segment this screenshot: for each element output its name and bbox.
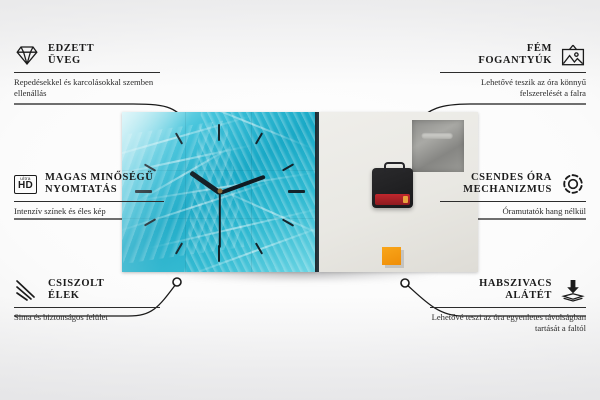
feature-title: CSISZOLT ÉLEK [48, 278, 104, 303]
feature-polished-edges[interactable]: CSISZOLT ÉLEK Sima és biztonságos felüle… [14, 278, 160, 323]
feature-description: Óramutatók hang nélkül [440, 206, 586, 217]
divider [14, 72, 160, 73]
ultra-hd-icon: ultra HD [14, 175, 37, 195]
infographic-canvas: EDZETT ÜVEG Repedésekkel és karcolásokka… [0, 0, 600, 400]
metal-hanger-plate [412, 120, 464, 172]
gear-icon [560, 172, 586, 196]
feature-metal-hangers[interactable]: FÉM FOGANTYÚK Lehetővé teszik az óra kön… [440, 43, 586, 99]
feature-title: FÉM FOGANTYÚK [478, 43, 552, 68]
divider [430, 307, 586, 308]
feature-title: CSENDES ÓRA MECHANIZMUS [463, 172, 552, 197]
feature-description: Lehetővé teszik az óra könnyű felszerelé… [440, 77, 586, 100]
foam-spacer-pad [382, 247, 401, 265]
feature-description: Intenzív színek és éles kép [14, 206, 164, 217]
divider [14, 307, 160, 308]
feature-description: Sima és biztonságos felület [14, 312, 160, 323]
picture-frame-hanger-icon [560, 43, 586, 67]
feature-description: Lehetővé teszi az óra egyenletes távolsá… [430, 312, 586, 335]
feature-title: EDZETT ÜVEG [48, 43, 94, 68]
feature-tempered-glass[interactable]: EDZETT ÜVEG Repedésekkel és karcolásokka… [14, 43, 160, 99]
clock-mechanism-box [372, 168, 413, 208]
feature-title: HABSZIVACS ALÁTÉT [479, 278, 552, 303]
feature-title: MAGAS MINŐSÉGŰ NYOMTATÁS [45, 172, 153, 197]
diagonal-lines-icon [14, 278, 40, 302]
mechanism-tab [384, 162, 405, 172]
divider [14, 201, 164, 202]
arrow-onto-layer-icon [560, 278, 586, 302]
battery [375, 194, 410, 205]
feature-description: Repedésekkel és karcolásokkal szemben el… [14, 77, 160, 100]
feature-high-quality-print[interactable]: ultra HD MAGAS MINŐSÉGŰ NYOMTATÁS Intenz… [14, 172, 164, 217]
divider [440, 72, 586, 73]
divider [440, 201, 586, 202]
hanger-slot [421, 132, 453, 139]
feature-quiet-mechanism[interactable]: CSENDES ÓRA MECHANIZMUS Óramutatók hang … [440, 172, 586, 217]
feature-foam-pad[interactable]: HABSZIVACS ALÁTÉT Lehetővé teszi az óra … [430, 278, 586, 334]
product-image [122, 112, 478, 280]
diamond-icon [14, 43, 40, 67]
